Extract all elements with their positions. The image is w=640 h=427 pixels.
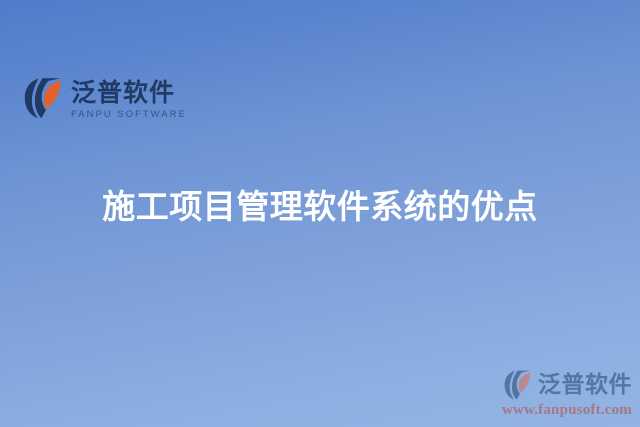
watermark-url: www.fanpusoft.com	[502, 402, 632, 419]
watermark-logo-row: 泛普软件	[502, 369, 632, 401]
watermark: 泛普软件 www.fanpusoft.com	[502, 369, 632, 419]
headline-title: 施工项目管理软件系统的优点	[0, 186, 640, 227]
watermark-name-cn: 泛普软件	[538, 373, 632, 397]
brand-wordmark: 泛普软件 FANPU SOFTWARE	[71, 77, 187, 120]
fanpu-logo-icon	[504, 369, 533, 401]
brand-name-en: FANPU SOFTWARE	[71, 109, 187, 120]
banner-image: 泛普软件 FANPU SOFTWARE 施工项目管理软件系统的优点 泛普软件 w…	[0, 0, 640, 427]
brand-name-cn: 泛普软件	[71, 79, 187, 106]
fanpu-logo-icon	[24, 76, 64, 120]
brand-logo: 泛普软件 FANPU SOFTWARE	[24, 76, 187, 120]
